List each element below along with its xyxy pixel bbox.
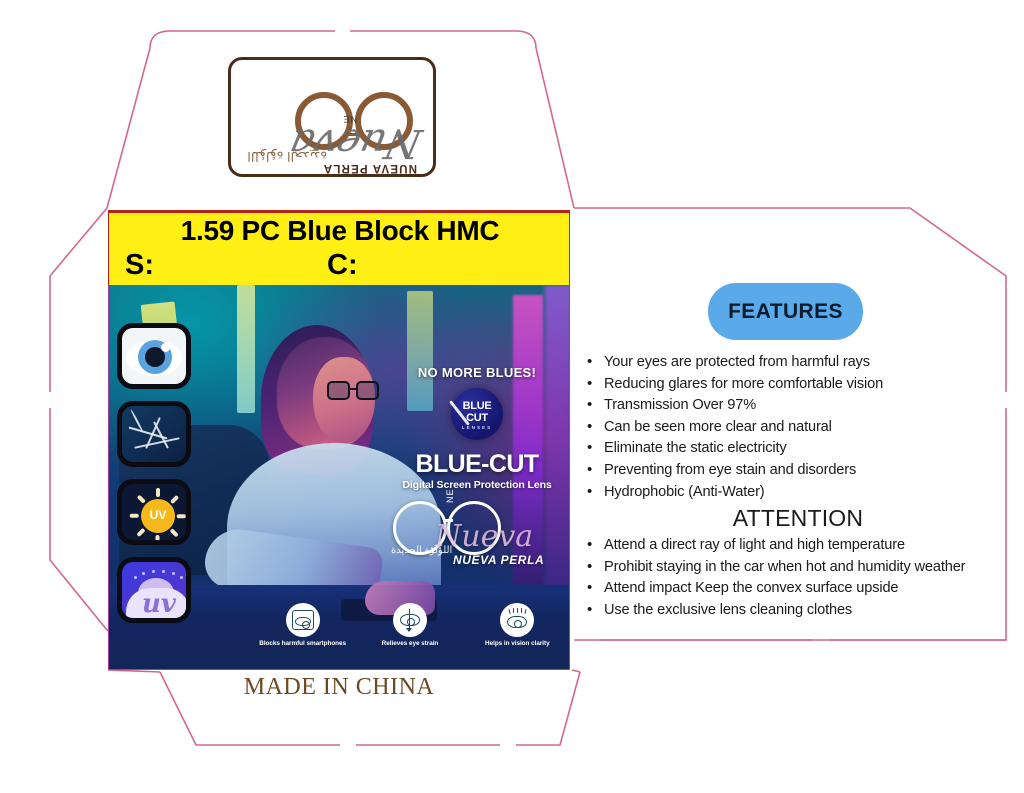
- photo-benefits-row: Blocks harmful smartphones Relieves eye …: [249, 603, 570, 665]
- cylinder-field-label: C:: [327, 249, 358, 282]
- sun-disc: UV: [141, 499, 175, 533]
- eye-strain-icon: [393, 603, 427, 637]
- list-item: Eliminate the static electricity: [604, 438, 1018, 460]
- uv-sun-icon: UV: [117, 479, 191, 545]
- product-title: 1.59 PC Blue Block HMC: [109, 215, 571, 247]
- dieline-top-right: [350, 31, 536, 48]
- logo-brand-name: NUEVA PERLA: [323, 162, 417, 174]
- product-photo-panel: UV uv: [108, 285, 570, 670]
- light-strip: [237, 285, 255, 413]
- sun-ray: [170, 495, 179, 504]
- list-item: Preventing from eye stain and disorders: [604, 460, 1018, 482]
- attention-list: Attend a direct ray of light and high te…: [578, 535, 1018, 621]
- eye-protection-icon: [117, 323, 191, 389]
- person-glasses: [327, 381, 381, 401]
- product-header-band: 1.59 PC Blue Block HMC S: C:: [108, 210, 570, 285]
- scratch-line-2: [134, 437, 179, 449]
- dieline-left-wing-upper: [50, 208, 107, 392]
- list-item: Transmission Over 97%: [604, 395, 1018, 417]
- badge-line-1: BLUE: [451, 400, 503, 412]
- watermark-arabic: اللؤلؤة الجديدة: [391, 545, 452, 556]
- promo-block: NO MORE BLUES! BLUE CUT LENSES BLUE-CUT …: [389, 365, 565, 491]
- benefit-label: Relieves eye strain: [360, 640, 460, 647]
- benefit-label: Blocks harmful smartphones: [253, 640, 353, 647]
- sun-ray: [177, 514, 186, 518]
- sun-ray: [156, 488, 160, 497]
- uv-cloud-icon: uv: [117, 557, 191, 623]
- list-item: Reducing glares for more comfortable vis…: [604, 374, 1018, 396]
- features-heading-pill: FEATURES: [708, 283, 863, 340]
- phone-eye-icon: [286, 603, 320, 637]
- sun-ray: [170, 528, 179, 537]
- dieline-bottom-right-edge: [572, 670, 580, 672]
- list-item: Hydrophobic (Anti-Water): [604, 482, 1018, 504]
- list-item: Can be seen more clear and natural: [604, 417, 1018, 439]
- watermark-brand-name: NUEVA PERLA: [453, 553, 544, 567]
- promo-tagline: NO MORE BLUES!: [389, 365, 565, 380]
- list-item: Use the exclusive lens cleaning clothes: [604, 600, 1018, 622]
- dieline-flap-left-slope: [107, 48, 150, 208]
- eye-glyph: [507, 616, 527, 628]
- sphere-field-label: S:: [125, 249, 154, 282]
- glasses-lens-right: [356, 381, 379, 400]
- eyelash-group: [509, 608, 525, 614]
- attention-title: ATTENTION: [578, 505, 1018, 532]
- benefit-label: Helps in vision clarity: [467, 640, 567, 647]
- eye-highlight: [161, 343, 170, 352]
- benefit-item: Blocks harmful smartphones: [253, 603, 353, 647]
- watermark-monogram: NE: [445, 488, 455, 503]
- sun-ray: [137, 528, 146, 537]
- benefit-item: Helps in vision clarity: [467, 603, 567, 647]
- made-in-label: MADE IN CHINA: [108, 674, 570, 701]
- logo-brand-arabic: اللؤلؤة الجديدة: [247, 148, 327, 164]
- dieline-bottom-left-edge: [108, 670, 160, 672]
- photo-watermark-logo: NE Nueva اللؤلؤة الجديدة NUEVA PERLA: [393, 497, 553, 569]
- packaging-dieline-artboard: NE Nueva NUEVA PERLA اللؤلؤة الجديدة 1.5…: [0, 0, 1024, 793]
- features-list: Your eyes are protected from harmful ray…: [578, 352, 1018, 503]
- brand-logo-box: NE Nueva NUEVA PERLA اللؤلؤة الجديدة: [228, 57, 436, 177]
- brand-logo-inner: NE Nueva NUEVA PERLA اللؤلؤة الجديدة: [231, 60, 436, 177]
- promo-headline: BLUE-CUT: [389, 450, 565, 479]
- list-item: Attend impact Keep the convex surface up…: [604, 578, 1018, 600]
- list-item: Prohibit staying in the car when hot and…: [604, 557, 1018, 579]
- dieline-left-wing-lower: [50, 408, 107, 630]
- sun-ray: [130, 514, 139, 518]
- uv-cloud-label: uv: [142, 589, 176, 619]
- eye-glyph: [295, 617, 311, 626]
- promo-subheadline: Digital Screen Protection Lens: [389, 479, 565, 491]
- features-title: FEATURES: [728, 300, 843, 324]
- badge-line-3: LENSES: [451, 425, 503, 430]
- sun-ray: [137, 495, 146, 504]
- down-arrow: [409, 609, 410, 631]
- blue-cut-badge: BLUE CUT LENSES: [451, 388, 503, 440]
- anti-scratch-icon: [117, 401, 191, 467]
- list-item: Attend a direct ray of light and high te…: [604, 535, 1018, 557]
- sun-ray: [156, 535, 160, 544]
- dieline-flap-right-slope: [536, 48, 574, 208]
- benefit-item: Relieves eye strain: [360, 603, 460, 647]
- glasses-lens-left: [327, 381, 350, 400]
- badge-line-2: CUT: [451, 412, 503, 424]
- list-item: Your eyes are protected from harmful ray…: [604, 352, 1018, 374]
- uv-sun-label: UV: [141, 508, 175, 522]
- vision-clarity-icon: [500, 603, 534, 637]
- dieline-top-left: [150, 31, 335, 48]
- feature-badge-column: UV uv: [117, 323, 199, 635]
